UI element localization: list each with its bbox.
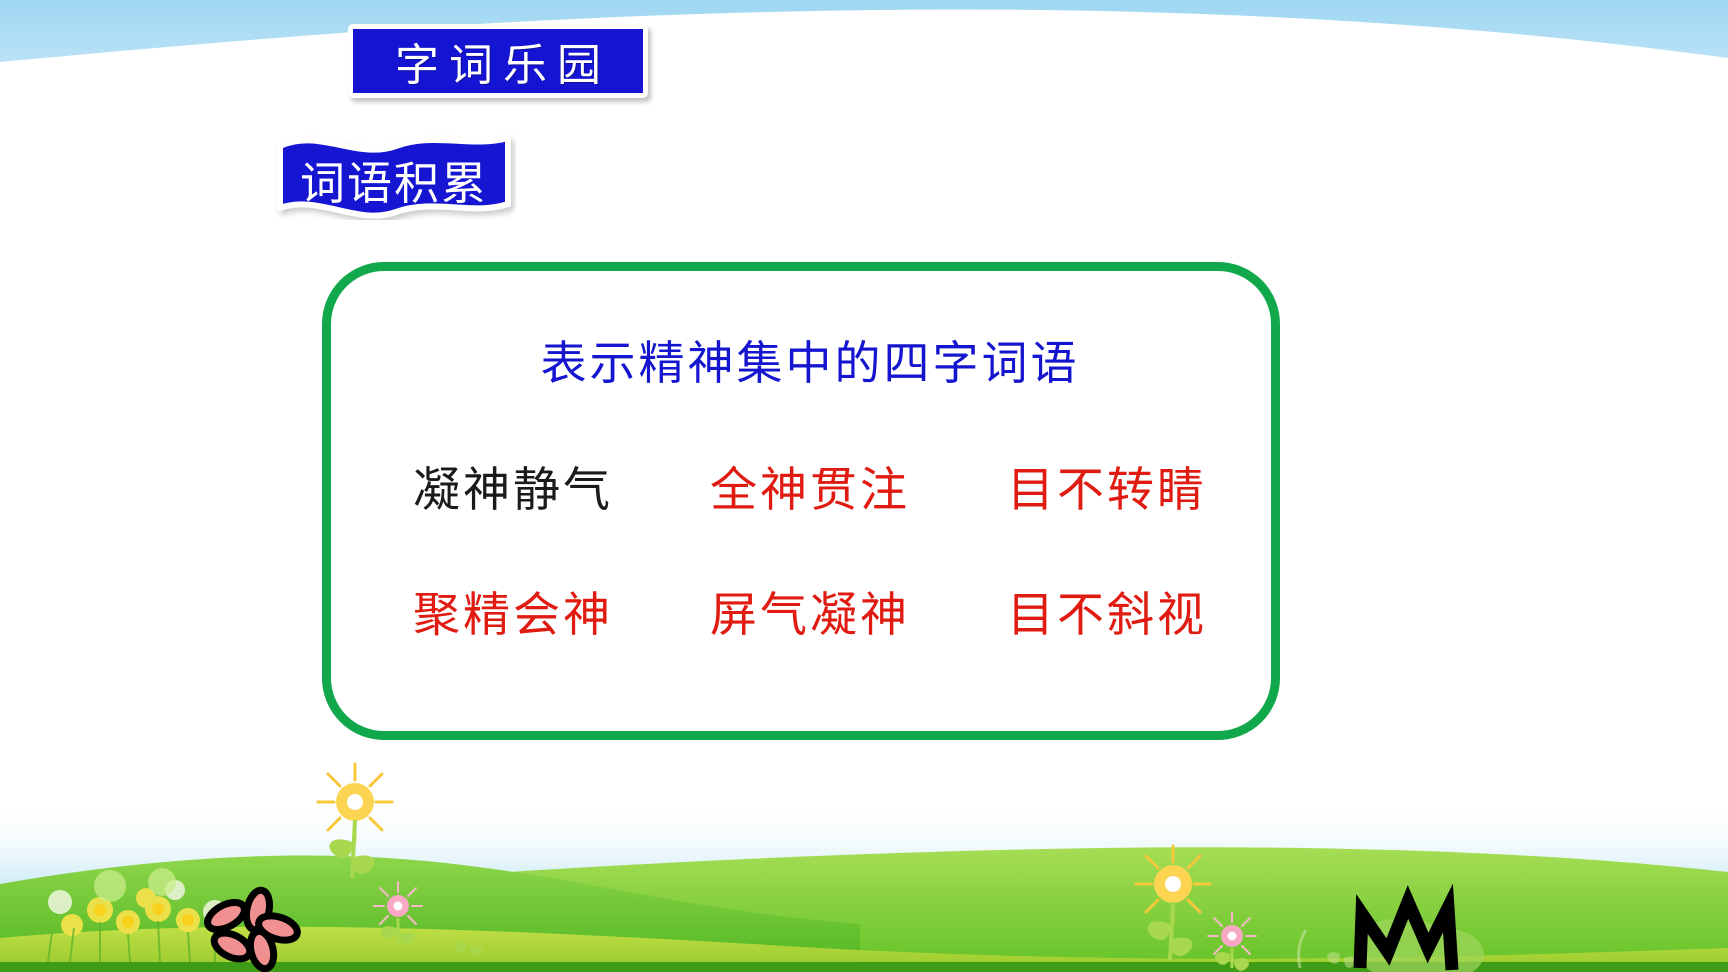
slide-canvas: 字词乐园 词语积累 表示精神集中的四字词语 凝神静气 全神贯注 目不转睛 <box>0 0 1728 972</box>
word-item: 目不转睛 <box>959 451 1255 520</box>
word-item: 全神贯注 <box>662 451 958 520</box>
word-row: 聚精会神 屏气凝神 目不斜视 <box>365 576 1255 645</box>
word-grid: 凝神静气 全神贯注 目不转睛 聚精会神 屏气凝神 目不斜视 <box>365 451 1255 701</box>
grass-scene-decoration <box>0 762 1728 972</box>
content-box: 表示精神集中的四字词语 凝神静气 全神贯注 目不转睛 聚精会神 屏气凝神 目不斜… <box>322 262 1280 740</box>
word-row: 凝神静气 全神贯注 目不转睛 <box>365 451 1255 520</box>
word-item: 凝神静气 <box>365 451 661 520</box>
content-box-heading: 表示精神集中的四字词语 <box>331 327 1289 393</box>
title-plaque-label: 字词乐园 <box>385 29 611 93</box>
sky-wave-decoration <box>0 0 1728 96</box>
title-plaque: 字词乐园 <box>348 24 648 98</box>
word-item: 聚精会神 <box>365 576 661 645</box>
word-item: 屏气凝神 <box>662 576 958 645</box>
word-item: 目不斜视 <box>959 576 1255 645</box>
section-ribbon-banner: 词语积累 <box>272 124 516 220</box>
section-ribbon-label: 词语积累 <box>272 124 516 220</box>
